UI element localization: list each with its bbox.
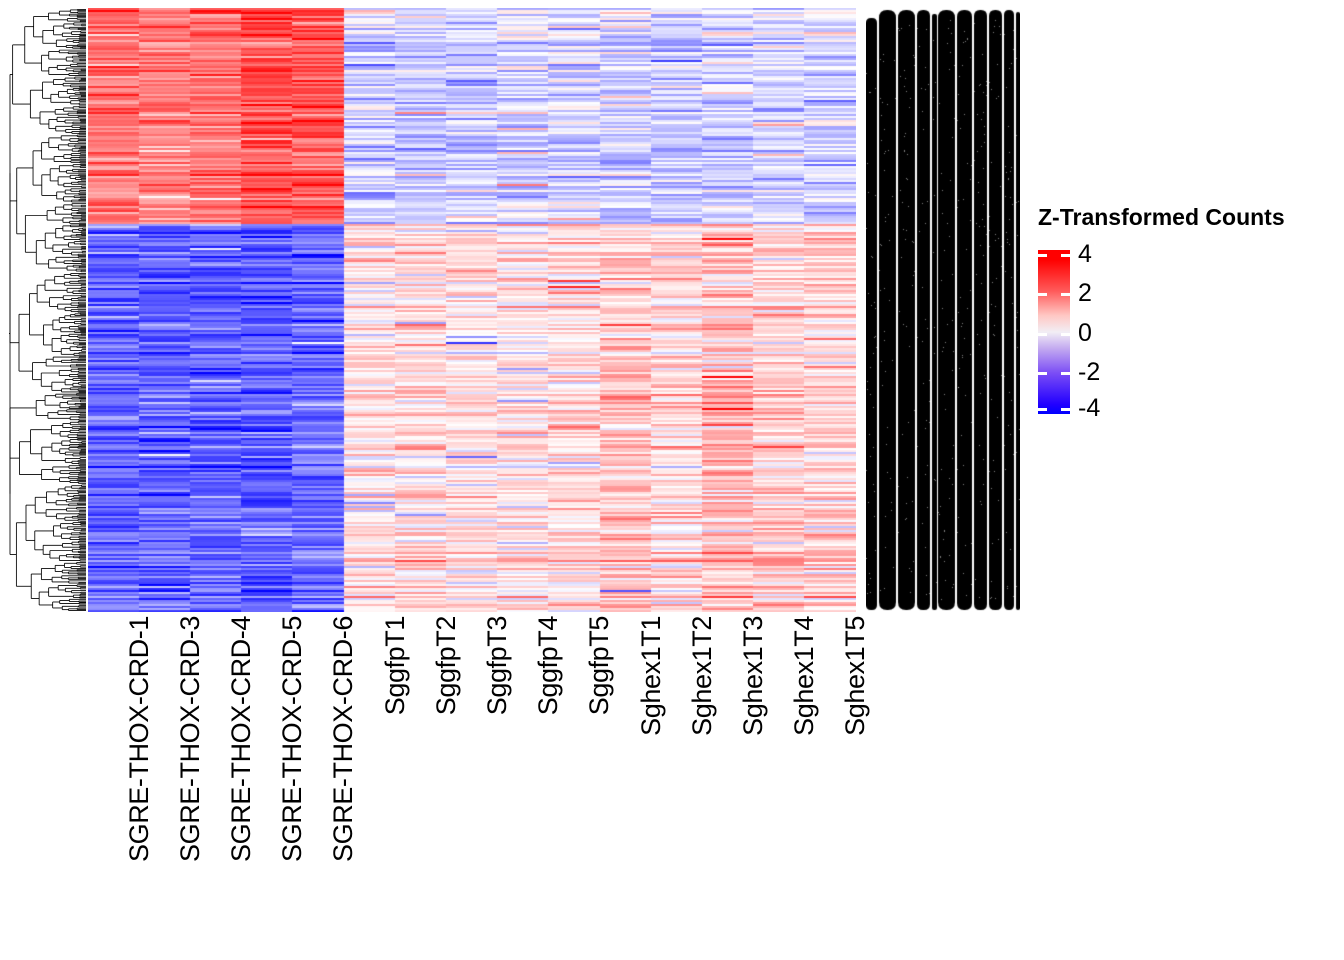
column-label: SggfpT5 [584, 616, 615, 715]
heatmap-figure: SGRE-THOX-CRD-1SGRE-THOX-CRD-3SGRE-THOX-… [0, 0, 1344, 960]
row-labels-block [866, 8, 1020, 612]
column-label: Sghex1T4 [789, 616, 820, 736]
column-label: Sghex1T5 [840, 616, 871, 736]
row-labels-canvas [866, 8, 1020, 612]
legend-tick-label: 4 [1078, 242, 1092, 267]
row-dendrogram [8, 8, 86, 612]
legend-tick-mark [1061, 408, 1070, 411]
column-labels: SGRE-THOX-CRD-1SGRE-THOX-CRD-3SGRE-THOX-… [88, 616, 856, 946]
column-label: Sghex1T2 [687, 616, 718, 736]
legend-tick-mark [1038, 372, 1047, 375]
legend-tick-mark [1061, 333, 1070, 336]
legend-tick-mark [1061, 372, 1070, 375]
legend-tick-label: -4 [1078, 396, 1100, 421]
column-label: SGRE-THOX-CRD-6 [328, 616, 359, 862]
column-label: SggfpT1 [380, 616, 411, 715]
column-label: Sghex1T1 [636, 616, 667, 736]
column-label: SggfpT3 [482, 616, 513, 715]
legend-tick-mark [1038, 293, 1047, 296]
legend-tick-mark [1038, 408, 1047, 411]
column-label: SGRE-THOX-CRD-4 [226, 616, 257, 862]
column-label: Sghex1T3 [738, 616, 769, 736]
legend-title: Z-Transformed Counts [1038, 204, 1285, 231]
row-dendrogram-svg [8, 8, 86, 612]
legend-tick-mark [1061, 293, 1070, 296]
legend-tick-label: -2 [1078, 360, 1100, 385]
legend-tick-label: 2 [1078, 281, 1092, 306]
heatmap-canvas [88, 8, 856, 612]
column-label: SGRE-THOX-CRD-1 [124, 616, 155, 862]
legend-tick-mark [1038, 333, 1047, 336]
legend-tick-label: 0 [1078, 321, 1092, 346]
legend-colorbar [1038, 250, 1070, 414]
column-label: SGRE-THOX-CRD-5 [277, 616, 308, 862]
heatmap-matrix [88, 8, 856, 612]
legend-tick-mark [1061, 254, 1070, 257]
column-label: SggfpT4 [533, 616, 564, 715]
column-label: SggfpT2 [431, 616, 462, 715]
legend: Z-Transformed Counts 420-2-4 [1036, 204, 1336, 420]
column-label: SGRE-THOX-CRD-3 [175, 616, 206, 862]
legend-tick-mark [1038, 254, 1047, 257]
